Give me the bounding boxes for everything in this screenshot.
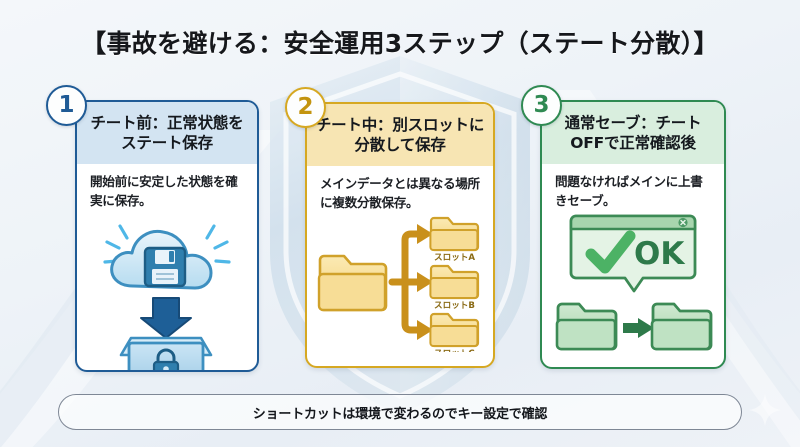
source-folder-icon xyxy=(319,256,386,310)
step-card-3-body: 問題なければメインに上書きセーブ。 xyxy=(542,164,724,210)
slot-a-label: スロットA xyxy=(434,252,475,263)
down-arrow-icon xyxy=(141,298,191,338)
footer-note-text: ショートカットは環境で変わるのでキー設定で確認 xyxy=(253,403,547,422)
slot-folder-b: スロットB xyxy=(430,266,478,311)
page-title: 【事故を避ける：安全運用3ステップ（ステート分散）】 xyxy=(0,24,800,60)
step-badge-1: 1 xyxy=(46,85,87,126)
step-card-1: チート前：正常状態をステート保存 開始前に安定した状態を確実に保存。 xyxy=(75,100,259,372)
ok-label: OK xyxy=(634,236,685,272)
step-card-1-body: 開始前に安定した状態を確実に保存。 xyxy=(77,164,257,210)
step-card-3: 通常セーブ：チートOFFで正常確認後 問題なければメインに上書きセーブ。 xyxy=(540,100,726,369)
slot-folder-c: スロットC xyxy=(430,314,478,352)
infographic-slide: 【事故を避ける：安全運用3ステップ（ステート分散）】 チート前：正常状態をステー… xyxy=(0,0,800,447)
footer-note: ショートカットは環境で変わるのでキー設定で確認 xyxy=(58,394,742,430)
step-card-1-heading: チート前：正常状態をステート保存 xyxy=(77,102,257,164)
step-badge-3: 3 xyxy=(521,85,562,126)
main-folder-green-icon xyxy=(652,304,711,349)
locked-box-icon xyxy=(121,338,211,372)
slot-c-label: スロットC xyxy=(434,348,475,352)
ok-dialog-window: OK xyxy=(571,216,695,291)
step-card-2-illustration: スロットA スロットB スロットC xyxy=(307,212,493,352)
step-card-2-body: メインデータとは異なる場所に複数分散保存。 xyxy=(307,166,493,212)
slot-folder-a: スロットA xyxy=(430,218,478,263)
step-card-2: チート中：別スロットに分散して保存 メインデータとは異なる場所に複数分散保存。 xyxy=(305,102,495,368)
source-folder-green-icon xyxy=(557,304,616,349)
step-card-1-illustration xyxy=(77,210,257,372)
slot-b-label: スロットB xyxy=(434,300,475,311)
step-badge-2: 2 xyxy=(285,87,326,128)
step-card-3-illustration: OK xyxy=(542,210,724,356)
floppy-disk-icon xyxy=(145,248,185,286)
sparkle-icon xyxy=(748,393,782,427)
branch-arrows-icon xyxy=(392,234,418,330)
overwrite-arrow-icon xyxy=(623,318,654,338)
step-card-3-heading: 通常セーブ：チートOFFで正常確認後 xyxy=(542,102,724,164)
step-card-2-heading: チート中：別スロットに分散して保存 xyxy=(307,104,493,166)
